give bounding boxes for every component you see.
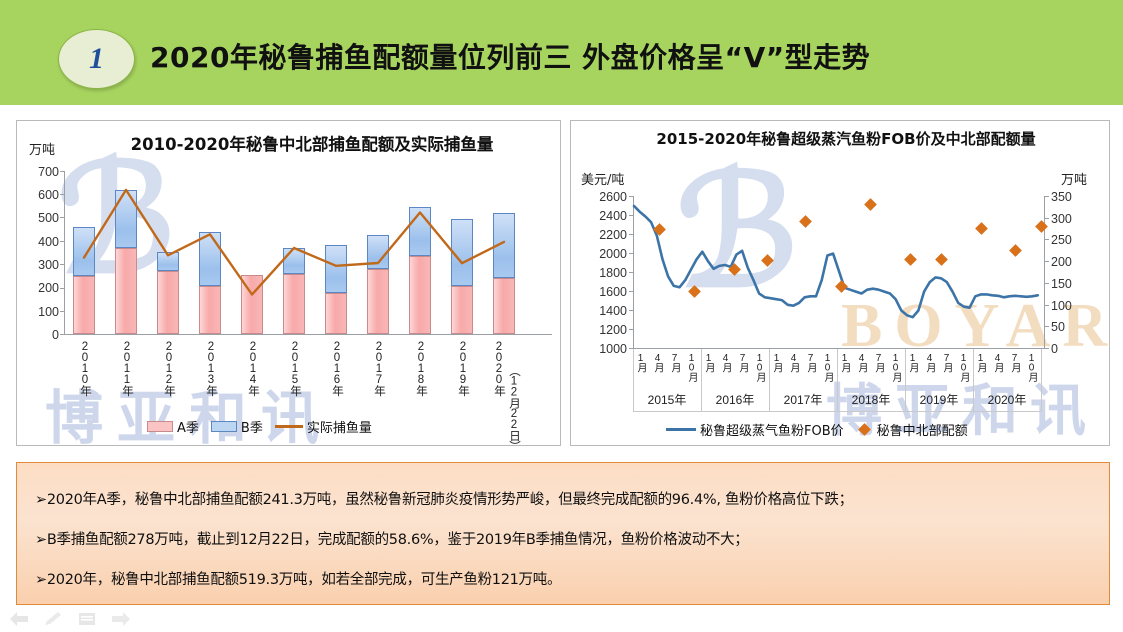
legend-label-quota: 秘鲁中北部配额	[877, 420, 968, 439]
note-bullet-2: ➢	[35, 532, 47, 548]
right-left-y-axis	[633, 196, 634, 348]
legend-label-b-season: B季	[241, 417, 263, 436]
notes-box: ➢2020年A季，秘鲁中北部捕鱼配额241.3万吨，虽然秘鲁新冠肺炎疫情形势严峻…	[16, 462, 1110, 605]
y-tick-500: 500	[19, 211, 59, 225]
month-label-23: 10月	[1024, 353, 1039, 381]
bar-b-2015	[283, 248, 305, 274]
bar-b-2020	[493, 213, 515, 278]
right-chart-legend: 秘鲁超级蒸气鱼粉FOB价 秘鲁中北部配额	[666, 420, 968, 439]
r2-y-tick-250: 250	[1051, 233, 1097, 247]
month-label-18: 7月	[939, 353, 954, 371]
month-label-19: 10月	[956, 353, 971, 381]
bottom-toolbar	[0, 606, 1123, 632]
page-title: 2020年秘鲁捕鱼配额量位列前三 外盘价格呈“V”型走势	[150, 36, 870, 76]
year-label-2017: 2017年	[769, 391, 837, 408]
right-chart-title: 2015-2020年秘鲁超级蒸汽鱼粉FOB价及中北部配额量	[646, 129, 1046, 150]
header-banner: 1 2020年秘鲁捕鱼配额量位列前三 外盘价格呈“V”型走势	[0, 0, 1123, 105]
note-line-1: ➢2020年A季，秘鲁中北部捕鱼配额241.3万吨，虽然秘鲁新冠肺炎疫情形势严峻…	[35, 488, 853, 509]
left-chart-title: 2010-2020年秘鲁中北部捕鱼配额及实际捕鱼量	[77, 131, 547, 155]
r2-y-tick-200: 200	[1051, 255, 1097, 269]
bar-a-2018	[409, 256, 431, 334]
quota-marker-2015a	[653, 223, 666, 236]
legend-item-quota: 秘鲁中北部配额	[860, 420, 968, 439]
legend-item-fob-price: 秘鲁超级蒸气鱼粉FOB价	[666, 420, 844, 439]
r2-y-tick-150: 150	[1051, 277, 1097, 291]
quota-marker-2016a	[728, 263, 741, 276]
legend-swatch-actual-catch	[275, 425, 303, 428]
month-label-2: 7月	[667, 353, 682, 371]
legend-item-b-season: B季	[211, 417, 263, 436]
note-text-3: 2020年，秘鲁中北部捕鱼配额519.3万吨，如若全部完成，可生产鱼粉121万吨…	[47, 572, 561, 588]
x-label-2020-sub: （12月22日）	[506, 365, 522, 451]
bar-b-2018	[409, 207, 431, 256]
r-y-tick-2000: 2000	[579, 247, 627, 261]
legend-label-actual-catch: 实际捕鱼量	[307, 417, 372, 436]
month-label-13: 4月	[854, 353, 869, 371]
legend-label-fob-price: 秘鲁超级蒸气鱼粉FOB价	[700, 420, 844, 439]
quota-marker-2018b	[904, 253, 917, 266]
quota-marker-2017a	[799, 215, 812, 228]
bar-b-2017	[367, 235, 389, 269]
r-y-tick-2200: 2200	[579, 228, 627, 242]
left-chart-panel: ℬ 博亚和讯 2010-2020年秘鲁中北部捕鱼配额及实际捕鱼量 万吨 700 …	[16, 120, 561, 446]
bar-a-2019	[451, 286, 473, 334]
x-label-2018: 2018年	[413, 341, 429, 396]
month-label-15: 10月	[888, 353, 903, 381]
year-label-2019: 2019年	[905, 391, 973, 408]
month-label-3: 10月	[684, 353, 699, 381]
forward-arrow-icon[interactable]	[110, 610, 132, 628]
y-tick-100: 100	[19, 305, 59, 319]
slide-number: 1	[89, 42, 104, 76]
r2-y-tick-50: 50	[1051, 320, 1097, 334]
note-line-3: ➢2020年，秘鲁中北部捕鱼配额519.3万吨，如若全部完成，可生产鱼粉121万…	[35, 568, 561, 589]
y-tick-700: 700	[19, 165, 59, 179]
x-label-2016: 2016年	[329, 341, 345, 396]
note-icon[interactable]	[76, 610, 98, 628]
bar-b-2012	[157, 252, 179, 271]
quota-marker-2016b	[761, 254, 774, 267]
left-y-axis	[64, 171, 65, 335]
month-label-7: 10月	[752, 353, 767, 381]
right-chart-left-unit: 美元/吨	[581, 169, 624, 188]
month-label-5: 4月	[718, 353, 733, 371]
r2-y-tick-350: 350	[1051, 190, 1097, 204]
note-line-2: ➢B季捕鱼配额278万吨，截止到12月22日，完成配额的58.6%，鉴于2019…	[35, 528, 749, 549]
bar-a-2016	[325, 293, 347, 334]
x-label-2013: 2013年	[203, 341, 219, 396]
y-tick-600: 600	[19, 188, 59, 202]
r-y-tick-1000: 1000	[579, 342, 627, 356]
bar-b-2013	[199, 232, 221, 286]
year-label-2020: 2020年	[973, 391, 1041, 408]
bar-a-2010	[73, 276, 95, 334]
bar-b-2016	[325, 245, 347, 292]
r-y-tick-1200: 1200	[579, 323, 627, 337]
bar-b-2011	[115, 190, 137, 248]
bar-a-2014	[241, 275, 263, 334]
y-tick-0: 0	[19, 328, 59, 342]
y-tick-400: 400	[19, 235, 59, 249]
legend-item-a-season: A季	[147, 417, 199, 436]
x-label-2020: 2020年	[491, 341, 507, 396]
legend-item-actual-catch: 实际捕鱼量	[275, 417, 372, 436]
month-label-4: 1月	[701, 353, 716, 371]
right-x-axis	[633, 348, 1045, 349]
x-label-2014: 2014年	[245, 341, 261, 396]
right-chart-panel: ℬ BOYAR 博亚和讯 2015-2020年秘鲁超级蒸汽鱼粉FOB价及中北部配…	[570, 120, 1110, 446]
bar-b-2019	[451, 219, 473, 286]
note-text-1: 2020年A季，秘鲁中北部捕鱼配额241.3万吨，虽然秘鲁新冠肺炎疫情形势严峻，…	[47, 492, 853, 508]
month-label-1: 4月	[650, 353, 665, 371]
watermark-logo-right: ℬ	[676, 156, 798, 311]
month-label-6: 7月	[735, 353, 750, 371]
bar-a-2017	[367, 269, 389, 334]
year-label-2015: 2015年	[633, 391, 701, 408]
back-arrow-icon[interactable]	[8, 610, 30, 628]
left-chart-legend: A季 B季 实际捕鱼量	[147, 417, 372, 436]
month-label-17: 4月	[922, 353, 937, 371]
month-label-12: 1月	[837, 353, 852, 371]
note-bullet-3: ➢	[35, 572, 47, 588]
bar-a-2015	[283, 274, 305, 334]
slide-number-badge: 1	[58, 29, 135, 89]
quota-marker-2018a	[864, 198, 877, 211]
month-label-14: 7月	[871, 353, 886, 371]
year-label-2018: 2018年	[837, 391, 905, 408]
r2-y-tick-300: 300	[1051, 212, 1097, 226]
x-label-2019: 2019年	[455, 341, 471, 396]
x-label-2017: 2017年	[371, 341, 387, 396]
quota-marker-2019a	[935, 253, 948, 266]
bar-a-2020	[493, 278, 515, 334]
r-y-tick-1600: 1600	[579, 285, 627, 299]
month-label-22: 7月	[1007, 353, 1022, 371]
month-label-9: 4月	[786, 353, 801, 371]
right-chart-right-unit: 万吨	[1061, 169, 1087, 188]
x-label-2012: 2012年	[161, 341, 177, 396]
bar-a-2012	[157, 271, 179, 334]
r-y-tick-1800: 1800	[579, 266, 627, 280]
y-tick-300: 300	[19, 258, 59, 272]
quota-marker-2019b	[975, 222, 988, 235]
r-y-tick-2400: 2400	[579, 209, 627, 223]
quota-marker-2017b	[835, 280, 848, 293]
r2-y-tick-0: 0	[1051, 342, 1097, 356]
left-chart-y-unit: 万吨	[29, 139, 55, 158]
bar-b-2010	[73, 227, 95, 277]
legend-swatch-a-season	[147, 421, 173, 432]
quota-marker-2020a	[1009, 244, 1022, 257]
note-text-2: B季捕鱼配额278万吨，截止到12月22日，完成配额的58.6%，鉴于2019年…	[47, 532, 749, 548]
legend-swatch-b-season	[211, 421, 237, 432]
month-label-0: 1月	[633, 353, 648, 371]
quota-marker-2015b	[688, 285, 701, 298]
x-label-2015: 2015年	[287, 341, 303, 396]
r2-y-tick-100: 100	[1051, 299, 1097, 313]
left-x-axis	[64, 334, 552, 335]
quota-marker-2020b	[1035, 220, 1048, 233]
legend-swatch-quota	[858, 423, 871, 436]
r-y-tick-1400: 1400	[579, 304, 627, 318]
bar-a-2011	[115, 248, 137, 334]
month-label-11: 10月	[820, 353, 835, 381]
legend-swatch-fob-price	[666, 428, 696, 432]
x-label-2010: 2010年	[77, 341, 93, 396]
legend-label-a-season: A季	[177, 417, 199, 436]
month-label-8: 1月	[769, 353, 784, 371]
x-label-2011: 2011年	[119, 341, 135, 396]
note-bullet-1: ➢	[35, 492, 47, 508]
month-label-16: 1月	[905, 353, 920, 371]
r-y-tick-2600: 2600	[579, 190, 627, 204]
year-label-2016: 2016年	[701, 391, 769, 408]
pencil-icon[interactable]	[42, 610, 64, 628]
month-label-10: 7月	[803, 353, 818, 371]
bar-a-2013	[199, 286, 221, 334]
month-label-20: 1月	[973, 353, 988, 371]
y-tick-200: 200	[19, 281, 59, 295]
right-right-y-axis	[1044, 196, 1045, 348]
month-label-21: 4月	[990, 353, 1005, 371]
